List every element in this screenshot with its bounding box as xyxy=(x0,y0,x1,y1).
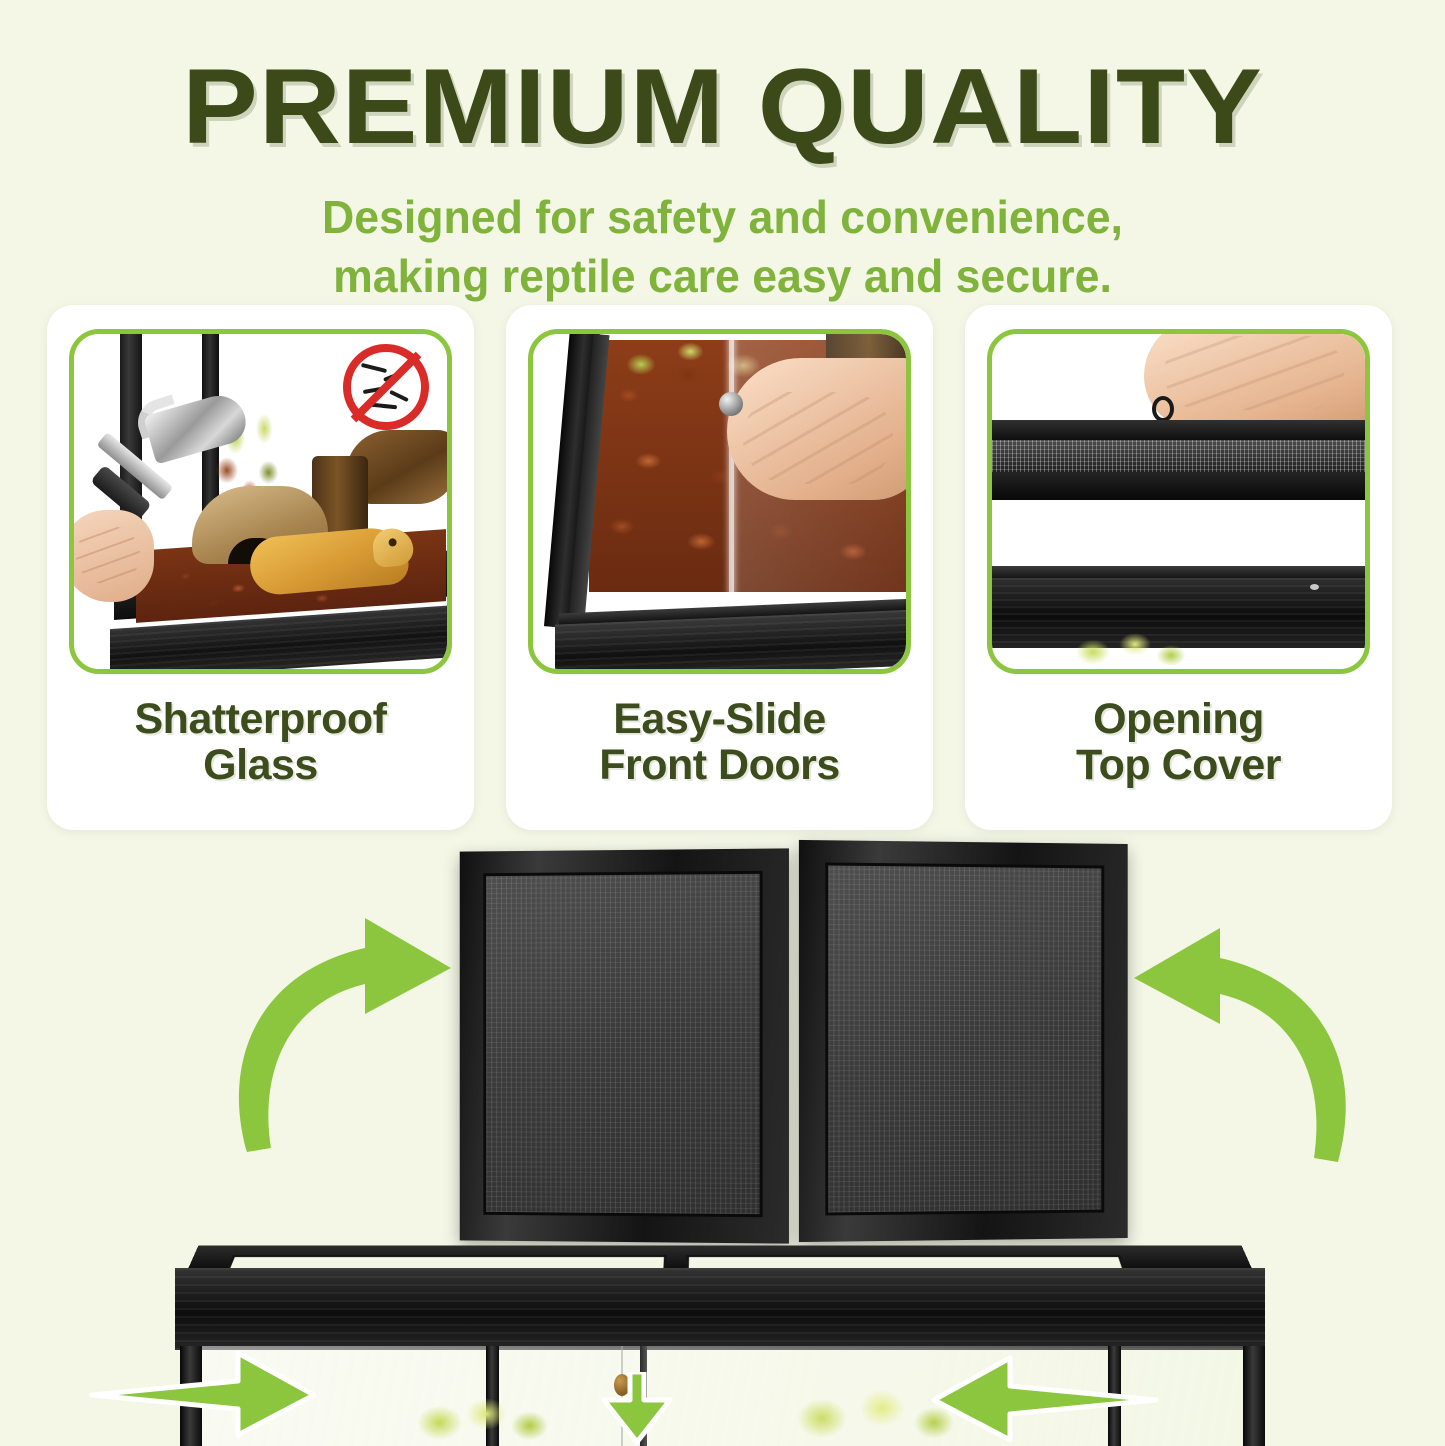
feature-label-opening-top-cover: Opening Top Cover xyxy=(1076,696,1281,789)
terrarium-upper-rim xyxy=(175,1268,1265,1350)
artificial-plant xyxy=(1054,623,1204,669)
feature-label-line-1: Opening xyxy=(1076,696,1281,742)
feature-label-line-2: Top Cover xyxy=(1076,742,1281,788)
page-subtitle: Designed for safety and convenience, mak… xyxy=(22,188,1424,306)
mesh-screen xyxy=(992,440,1365,474)
feature-label-line-1: Shatterproof xyxy=(135,696,387,742)
front-glass-doors[interactable] xyxy=(202,1346,1243,1446)
hero-product-image xyxy=(0,838,1445,1445)
feature-card-shatterproof-glass[interactable]: Shatterproof Glass xyxy=(47,305,474,830)
terrarium-corner-post xyxy=(180,1346,202,1446)
feature-label-line-2: Front Doors xyxy=(599,742,840,788)
feature-card-easy-slide-front-doors[interactable]: Easy-Slide Front Doors xyxy=(506,305,933,830)
door-knob[interactable] xyxy=(614,1374,630,1396)
artificial-plant xyxy=(400,1371,580,1445)
mesh-screen xyxy=(825,862,1104,1215)
feature-card-opening-top-cover[interactable]: Opening Top Cover xyxy=(965,305,1392,830)
door-seam xyxy=(640,1346,647,1446)
feature-label-line-2: Glass xyxy=(135,742,387,788)
feature-label-shatterproof-glass: Shatterproof Glass xyxy=(135,696,387,789)
terrarium-divider-post xyxy=(1108,1346,1121,1446)
page-title: PREMIUM QUALITY xyxy=(0,52,1445,161)
subtitle-line-2: making reptile care easy and secure. xyxy=(22,247,1424,306)
hand-holding-hammer xyxy=(74,510,154,602)
hand-sliding-door xyxy=(727,358,906,500)
feature-photo-easy-slide-front-doors xyxy=(528,329,911,674)
feature-card-list: Shatterproof Glass Easy-Slide xyxy=(47,305,1392,830)
terrarium-corner-post xyxy=(1243,1346,1265,1446)
subtitle-line-1: Designed for safety and convenience, xyxy=(22,188,1424,247)
feature-photo-opening-top-cover xyxy=(987,329,1370,674)
left-mesh-lid[interactable] xyxy=(460,848,789,1243)
door-knob xyxy=(719,392,743,416)
feature-label-line-1: Easy-Slide xyxy=(599,696,840,742)
feature-photo-shatterproof-glass xyxy=(69,329,452,674)
mesh-screen xyxy=(483,871,762,1217)
right-mesh-lid[interactable] xyxy=(799,840,1128,1242)
no-crack-prohibition-icon xyxy=(343,344,429,430)
feature-label-easy-slide-front-doors: Easy-Slide Front Doors xyxy=(599,696,840,789)
hand-lifting-lid xyxy=(1144,334,1365,430)
pull-ring-icon xyxy=(1152,396,1174,422)
artificial-plant xyxy=(770,1371,970,1445)
